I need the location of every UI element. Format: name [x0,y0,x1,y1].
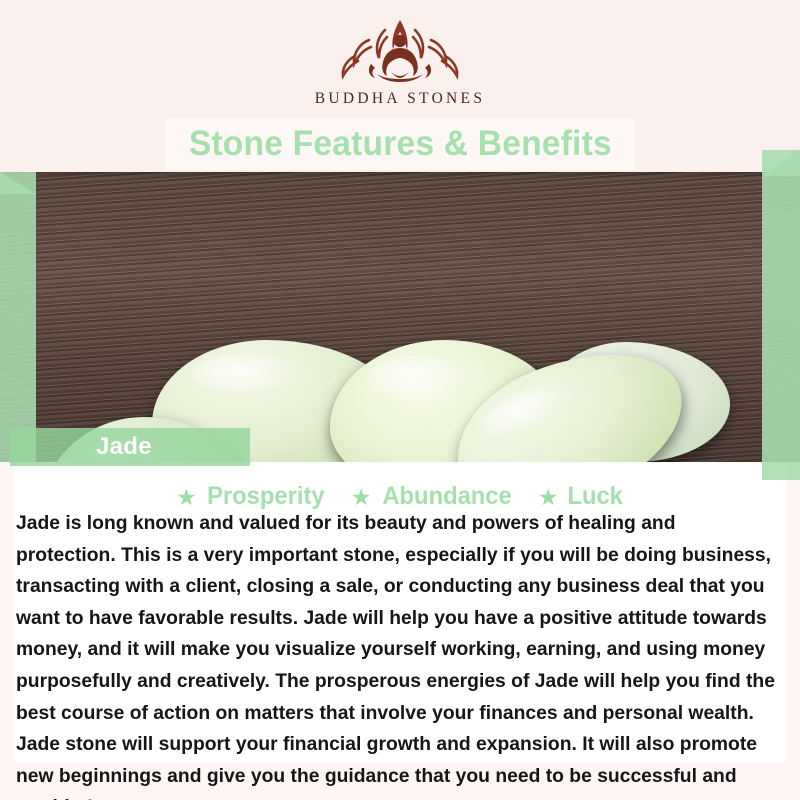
brand-logo: BUDDHA STONES [0,14,800,108]
poster-canvas: BUDDHA STONES Stone Features & Benefits … [0,0,800,800]
benefits-row: ★ Prosperity ★ Abundance ★ Luck [0,482,800,511]
benefit-item-abundance: ★ Abundance [350,482,515,511]
benefit-label: Luck [568,482,623,511]
description-text: Jade is long known and valued for its be… [16,508,776,800]
decor-green-right-band [762,150,800,480]
page-title: Stone Features & Benefits [188,124,611,164]
hero-image [0,172,800,462]
image-top-shadow [0,172,800,178]
stone-name-badge: Jade [10,428,250,466]
benefit-label: Abundance [382,482,511,511]
title-banner: Stone Features & Benefits [165,118,635,170]
benefit-label: Prosperity [208,482,325,511]
star-icon: ★ [175,486,197,508]
stone-name-label: Jade [96,433,152,461]
decor-green-left-band [0,172,36,462]
lotus-meditation-icon [325,14,475,88]
brand-name: BUDDHA STONES [0,90,800,108]
star-icon: ★ [537,486,559,508]
star-icon: ★ [350,486,372,508]
benefit-item-prosperity: ★ Prosperity [175,482,328,511]
benefit-item-luck: ★ Luck [537,482,624,511]
